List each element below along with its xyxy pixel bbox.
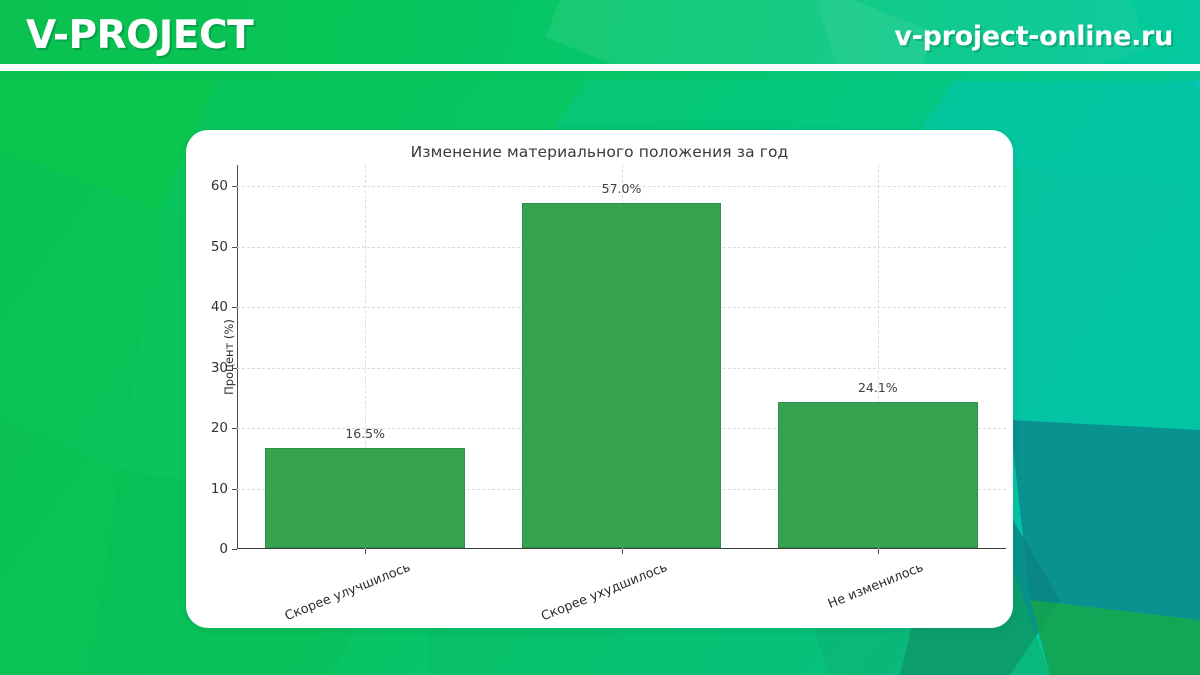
y-tick	[232, 489, 238, 490]
y-tick	[232, 549, 238, 550]
plot-area: Процент (%) 0102030405060 16.5%57.0%24.1…	[237, 165, 1006, 549]
header-white-divider	[0, 64, 1200, 71]
y-tick	[232, 368, 238, 369]
bar[interactable]	[778, 402, 978, 548]
y-tick-label: 50	[211, 239, 228, 255]
x-tick	[878, 549, 879, 554]
bar-value-label: 57.0%	[602, 181, 642, 196]
x-category-label: Скорее улучшилось	[283, 560, 413, 624]
y-tick	[232, 186, 238, 187]
x-category-label: Не изменилось	[826, 560, 926, 612]
y-tick-label: 20	[211, 420, 228, 436]
site-url: v-project-online.ru	[894, 21, 1173, 52]
y-axis-spine	[237, 165, 238, 549]
y-tick	[232, 247, 238, 248]
y-axis-label: Процент (%)	[222, 319, 236, 395]
y-tick	[232, 428, 238, 429]
y-tick-label: 60	[211, 178, 228, 194]
x-category-label: Скорее ухудшилось	[539, 560, 669, 624]
chart-title: Изменение материального положения за год	[186, 143, 1013, 161]
header-green-band	[0, 71, 1200, 81]
y-tick-label: 30	[211, 360, 228, 376]
y-tick-label: 0	[219, 541, 228, 557]
bar-value-label: 16.5%	[345, 426, 385, 441]
x-tick	[365, 549, 366, 554]
bar-value-label: 24.1%	[858, 380, 898, 395]
bar[interactable]	[522, 203, 722, 548]
x-tick	[622, 549, 623, 554]
brand-logo: V-PROJECT	[26, 13, 253, 58]
chart-card: Изменение материального положения за год…	[186, 130, 1013, 628]
slide: V-PROJECT v-project-online.ru Изменение …	[0, 0, 1200, 675]
y-tick-label: 40	[211, 299, 228, 315]
bar[interactable]	[265, 448, 465, 548]
y-tick-label: 10	[211, 481, 228, 497]
bar-chart: Изменение материального положения за год…	[186, 130, 1013, 628]
y-tick	[232, 307, 238, 308]
